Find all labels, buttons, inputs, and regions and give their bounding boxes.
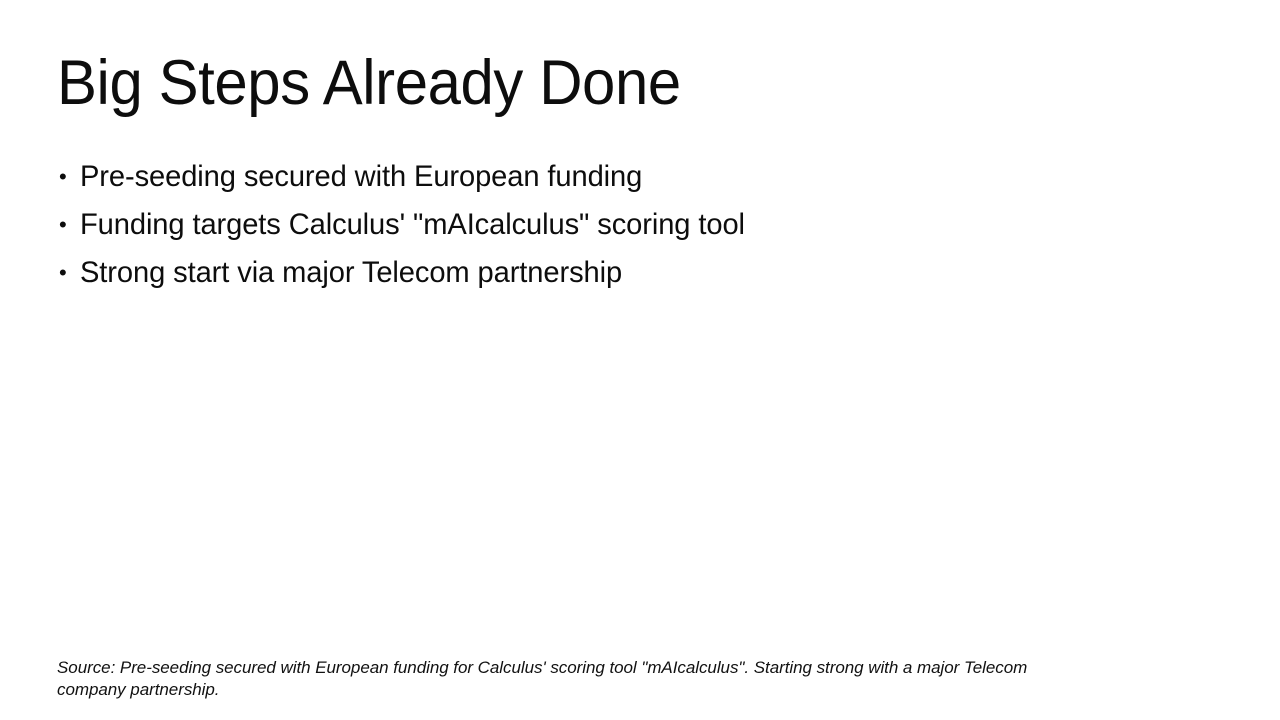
list-item-label: Strong start via major Telecom partnersh… bbox=[80, 249, 622, 297]
bullet-dot-icon: • bbox=[59, 201, 73, 249]
list-item: • Funding targets Calculus' "mAIcalculus… bbox=[57, 201, 1217, 249]
slide-canvas: Big Steps Already Done • Pre-seeding sec… bbox=[0, 0, 1280, 720]
bullet-list: • Pre-seeding secured with European fund… bbox=[57, 153, 1217, 297]
page-title: Big Steps Already Done bbox=[57, 52, 681, 115]
list-item: • Pre-seeding secured with European fund… bbox=[57, 153, 1217, 201]
bullet-dot-icon: • bbox=[59, 249, 73, 297]
source-note: Source: Pre-seeding secured with Europea… bbox=[57, 657, 1069, 701]
list-item-label: Funding targets Calculus' "mAIcalculus" … bbox=[80, 201, 745, 249]
list-item: • Strong start via major Telecom partner… bbox=[57, 249, 1217, 297]
list-item-label: Pre-seeding secured with European fundin… bbox=[80, 153, 642, 201]
bullet-dot-icon: • bbox=[59, 153, 73, 201]
